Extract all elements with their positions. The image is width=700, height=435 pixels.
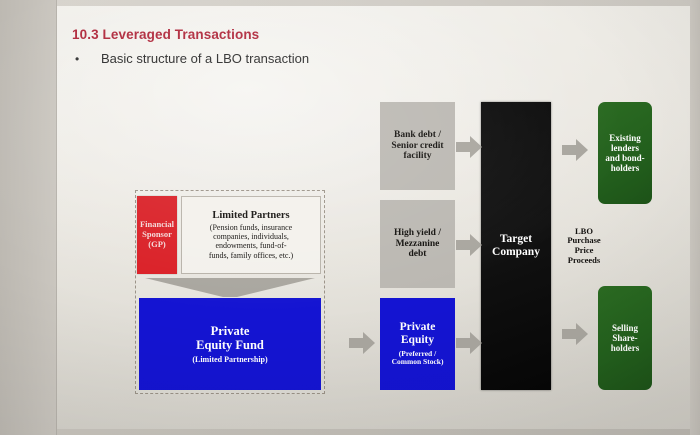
node-bank-debt: Bank debt / Senior credit facility xyxy=(380,102,455,190)
arrow-partners-to-fund-icon xyxy=(145,277,315,297)
private-equity-fund-line1: Private xyxy=(211,324,250,338)
node-existing-lenders: Existing lenders and bond- holders xyxy=(598,102,652,204)
existing-lenders-line1: Existing xyxy=(609,133,641,143)
private-equity-fund-sub: (Limited Partnership) xyxy=(192,355,267,364)
bank-debt-line1: Bank debt / xyxy=(394,130,441,141)
selling-shareholders-line1: Selling xyxy=(612,323,638,333)
bank-debt-line2: Senior credit xyxy=(391,141,443,152)
node-financial-sponsor: Financial Sponsor (GP) xyxy=(137,196,177,274)
limited-partners-line4: funds, family offices, etc.) xyxy=(209,251,293,260)
arrow-target-to-existing-lenders-icon xyxy=(562,137,588,163)
mezzanine-debt-line1: High yield / xyxy=(394,228,441,239)
private-equity-slice-sub2: Common Stock) xyxy=(392,358,444,367)
lbo-proceeds-line4: Proceeds xyxy=(568,256,600,266)
limited-partners-line3: endowments, fund-of- xyxy=(215,241,286,250)
private-equity-fund-line2: Equity Fund xyxy=(196,338,264,352)
node-mezzanine-debt: High yield / Mezzanine debt xyxy=(380,200,455,288)
selling-shareholders-line3: holders xyxy=(611,343,640,353)
existing-lenders-line2: lenders xyxy=(611,143,639,153)
slide-surface: 10.3 Leveraged Transactions • Basic stru… xyxy=(57,6,690,429)
limited-partners-line2: companies, individuals, xyxy=(213,232,289,241)
node-private-equity-fund: Private Equity Fund (Limited Partnership… xyxy=(139,298,321,390)
selling-shareholders-line2: Share- xyxy=(612,333,637,343)
label-lbo-purchase-price-proceeds: LBO Purchase Price Proceeds xyxy=(557,220,611,272)
arrow-fund-to-private-equity-icon xyxy=(349,330,375,356)
limited-partners-heading: Limited Partners xyxy=(212,210,289,222)
mezzanine-debt-line3: debt xyxy=(409,249,427,260)
node-private-equity-slice: Private Equity (Preferred / Common Stock… xyxy=(380,298,455,390)
limited-partners-line1: (Pension funds, insurance xyxy=(210,223,292,232)
target-company-line1: Target xyxy=(500,233,532,246)
existing-lenders-line3: and bond- xyxy=(605,153,644,163)
arrow-mezzanine-to-target-icon xyxy=(456,232,482,258)
lbo-structure-diagram: Financial Sponsor (GP) Limited Partners … xyxy=(57,6,690,429)
bank-debt-line3: facility xyxy=(404,151,432,162)
mezzanine-debt-line2: Mezzanine xyxy=(396,239,440,250)
node-selling-shareholders: Selling Share- holders xyxy=(598,286,652,390)
existing-lenders-line4: holders xyxy=(611,163,640,173)
photographed-slide-screenshot: 10.3 Leveraged Transactions • Basic stru… xyxy=(0,0,700,435)
private-equity-slice-line1: Private xyxy=(400,321,436,334)
arrow-target-to-selling-shareholders-icon xyxy=(562,321,588,347)
financial-sponsor-line3: (GP) xyxy=(148,240,165,250)
screen-right-gutter xyxy=(690,0,700,435)
node-target-company: Target Company xyxy=(481,102,551,390)
node-limited-partners: Limited Partners (Pension funds, insuran… xyxy=(181,196,321,274)
target-company-line2: Company xyxy=(492,246,540,259)
private-equity-slice-line2: Equity xyxy=(401,334,434,347)
arrow-bank-debt-to-target-icon xyxy=(456,134,482,160)
screen-left-gutter xyxy=(0,0,57,435)
arrow-private-equity-to-target-icon xyxy=(456,330,482,356)
